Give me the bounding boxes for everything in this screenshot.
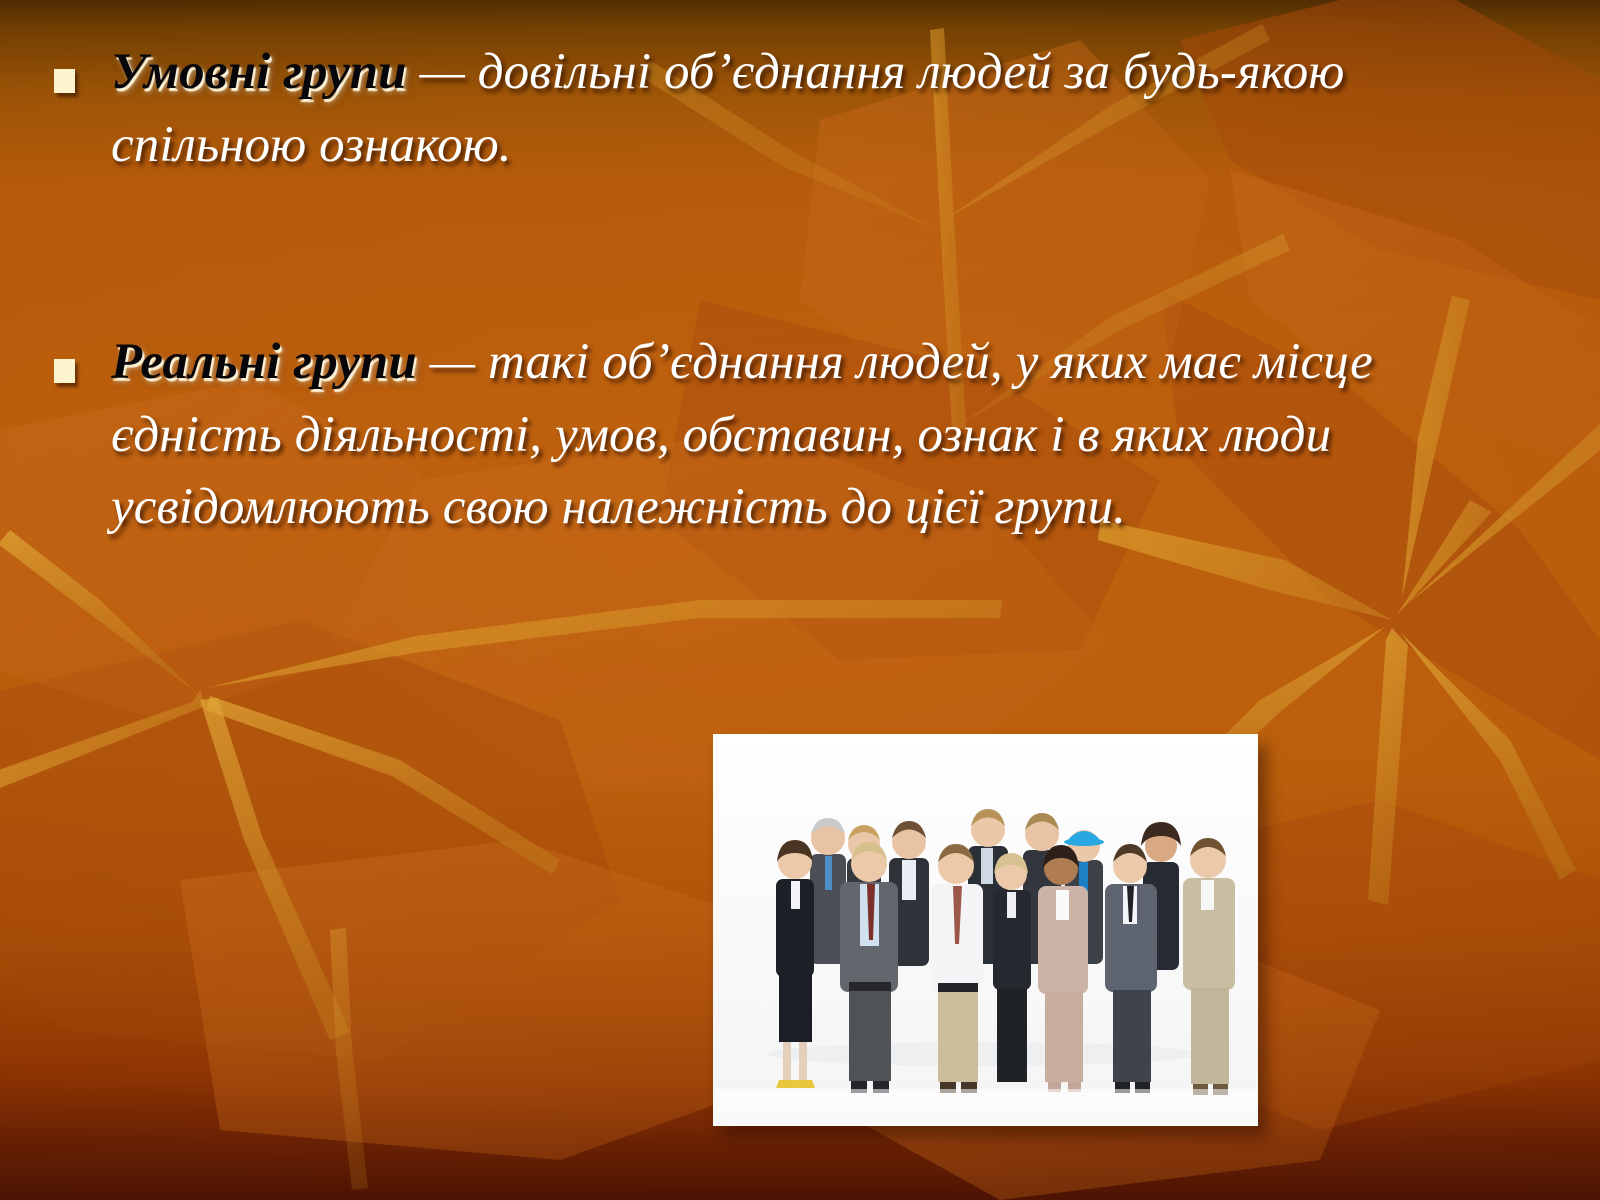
group-of-business-people-photo <box>713 734 1258 1126</box>
square-bullet-icon <box>54 69 75 93</box>
bullet-item-realni-grupy: Реальні групи — такі об’єднання людей, у… <box>48 326 1408 544</box>
slide: Умовні групи — довільні об’єднання людей… <box>0 0 1600 1200</box>
bullet-text-realni-grupy: Реальні групи — такі об’єднання людей, у… <box>48 326 1408 544</box>
bullet-item-umovni-grupy: Умовні групи — довільні об’єднання людей… <box>48 36 1408 181</box>
bullet-text-umovni-grupy: Умовні групи — довільні об’єднання людей… <box>48 36 1408 181</box>
square-bullet-icon <box>54 359 75 383</box>
bullet-lead-term: Умовні групи <box>111 44 407 100</box>
photo-illustration <box>713 734 1258 1126</box>
bullet-lead-term: Реальні групи <box>111 334 417 390</box>
slide-content: Умовні групи — довільні об’єднання людей… <box>0 0 1600 1200</box>
